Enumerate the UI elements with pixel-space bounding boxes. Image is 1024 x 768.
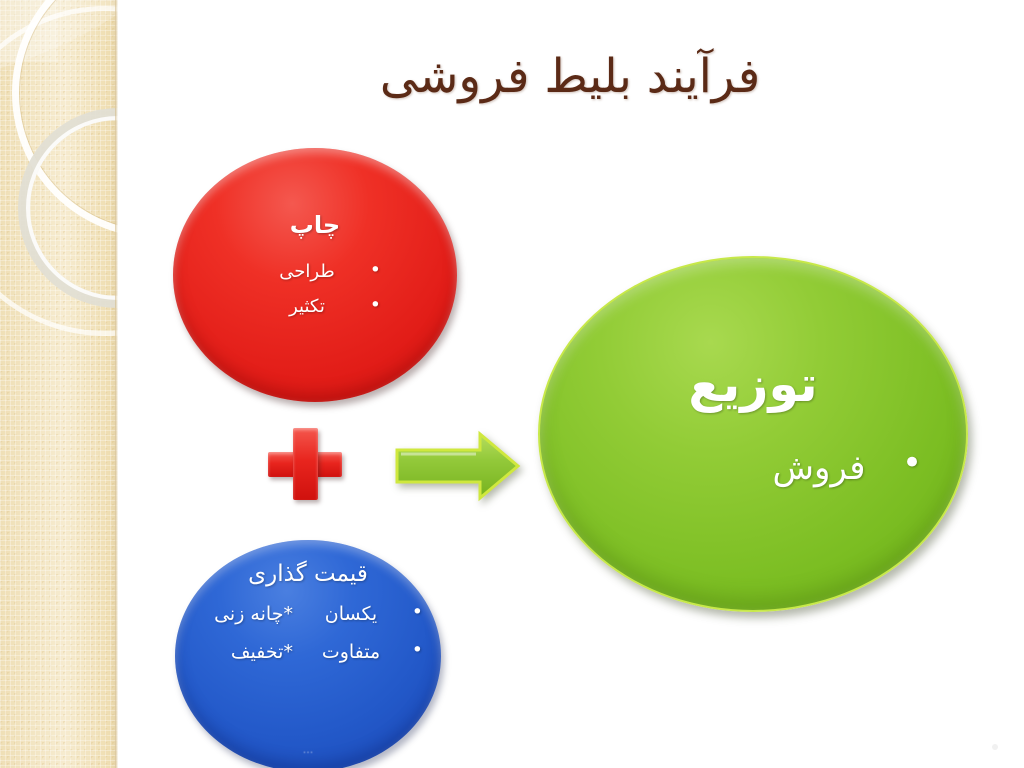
distribution-bullet-list: فروش <box>724 446 914 490</box>
sidebar-edge <box>115 0 118 768</box>
pricing-faint-text: ... <box>175 743 441 756</box>
pricing-bullet-main: متفاوت <box>299 639 403 667</box>
pricing-bullet-note: *چانه زنی <box>214 601 293 629</box>
pricing-heading: قیمت گذاری <box>175 562 441 587</box>
right-arrow-icon <box>392 430 522 502</box>
slide-canvas: فرآیند بلیط فروشی چاپ طراحی تکثیر <box>0 0 1024 768</box>
shape-pricing-circle[interactable]: قیمت گذاری یکسان *چانه زنی متفاوت *تخفیف… <box>175 540 441 768</box>
pricing-bullet-list: یکسان *چانه زنی متفاوت *تخفیف <box>193 601 425 666</box>
pricing-bullet-main: یکسان <box>299 601 403 629</box>
plus-vertical-bar <box>293 428 318 500</box>
print-heading: چاپ <box>173 212 457 238</box>
corner-mark <box>992 744 998 750</box>
list-item: طراحی <box>247 254 367 289</box>
list-item: تکثیر <box>247 289 367 324</box>
list-item: متفاوت *تخفیف <box>193 639 425 667</box>
shape-distribution-circle[interactable]: توزیع فروش <box>538 256 968 612</box>
decorative-sidebar <box>0 0 118 768</box>
pricing-bullet-note: *تخفیف <box>231 639 293 667</box>
right-arrow-svg <box>392 430 522 502</box>
distribution-heading: توزیع <box>540 358 966 412</box>
shape-print-circle[interactable]: چاپ طراحی تکثیر <box>173 148 457 402</box>
plus-icon <box>268 428 342 500</box>
list-item: یکسان *چانه زنی <box>193 601 425 629</box>
page-title: فرآیند بلیط فروشی <box>140 50 1000 104</box>
print-bullet-list: طراحی تکثیر <box>247 254 367 324</box>
list-item: فروش <box>724 446 914 490</box>
